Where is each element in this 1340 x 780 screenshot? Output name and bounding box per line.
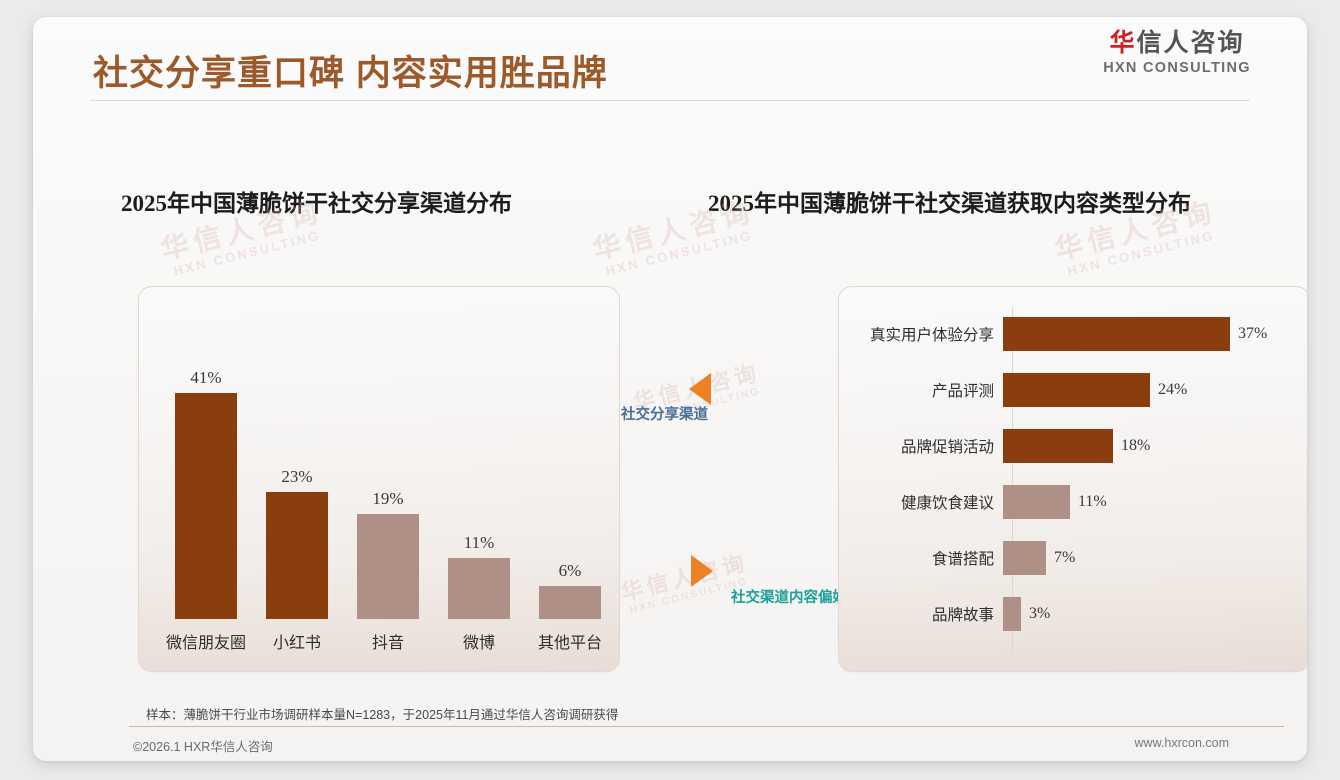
left-chart-title: 2025年中国薄脆饼干社交分享渠道分布: [121, 184, 512, 218]
footer-divider: [129, 726, 1284, 727]
bar-row: 产品评测24%: [839, 373, 1307, 407]
watermark: 华信人咨询 HXN CONSULTING: [618, 550, 753, 618]
column-bar[interactable]: [175, 393, 237, 619]
page-title: 社交分享重口碑 内容实用胜品牌: [93, 45, 608, 96]
triangle-right-icon: [691, 555, 713, 587]
social-share-channel-column-chart: 41%微信朋友圈23%小红书19%抖音11%微博6%其他平台: [139, 287, 619, 671]
column-value-label: 6%: [525, 561, 615, 581]
logo-accent-char: 华: [1109, 29, 1136, 57]
bar-row: 品牌促销活动18%: [839, 429, 1307, 463]
column-category-label: 其他平台: [515, 629, 620, 653]
bar-row-bar[interactable]: [1003, 429, 1113, 463]
bar-row-label: 产品评测: [839, 379, 1003, 401]
column-value-label: 41%: [161, 368, 251, 388]
logo-english-text: HXN CONSULTING: [1082, 60, 1272, 76]
bar-row-label: 真实用户体验分享: [839, 323, 1003, 345]
column-bar[interactable]: [357, 514, 419, 619]
bar-row-value-label: 11%: [1078, 493, 1107, 511]
website-link[interactable]: www.hxrcon.com: [1135, 736, 1229, 750]
source-note: 样本：薄脆饼干行业市场调研样本量N=1283，于2025年11月通过华信人咨询调…: [146, 704, 618, 723]
triangle-left-icon: [689, 373, 711, 405]
slide-header: 社交分享重口碑 内容实用胜品牌 华信人咨询 HXN CONSULTING: [33, 17, 1307, 137]
bar-row-bar[interactable]: [1003, 373, 1150, 407]
left-chart-panel: 41%微信朋友圈23%小红书19%抖音11%微博6%其他平台: [138, 286, 620, 672]
bar-row-value-label: 18%: [1121, 437, 1150, 455]
bar-row: 食谱搭配7%: [839, 541, 1307, 575]
bar-row-bar[interactable]: [1003, 541, 1046, 575]
logo-rest-chars: 信人咨询: [1137, 29, 1245, 57]
logo-chinese-text: 华信人咨询: [1082, 29, 1272, 58]
bar-row-label: 健康饮食建议: [839, 491, 1003, 513]
bar-row-value-label: 3%: [1029, 605, 1050, 623]
bar-row-bar[interactable]: [1003, 317, 1230, 351]
bar-row-label: 品牌促销活动: [839, 435, 1003, 457]
column-group: 23%: [252, 467, 342, 619]
bar-row: 真实用户体验分享37%: [839, 317, 1307, 351]
connector-label-2: 社交渠道内容偏好: [731, 586, 847, 607]
header-divider: [90, 100, 1250, 101]
column-bar[interactable]: [539, 586, 601, 619]
right-chart-panel: 真实用户体验分享37%产品评测24%品牌促销活动18%健康饮食建议11%食谱搭配…: [838, 286, 1307, 672]
bar-row-value-label: 24%: [1158, 381, 1187, 399]
bar-row: 健康饮食建议11%: [839, 485, 1307, 519]
right-chart-title: 2025年中国薄脆饼干社交渠道获取内容类型分布: [708, 184, 1191, 218]
bar-row-value-label: 37%: [1238, 325, 1267, 343]
content-type-bar-chart: 真实用户体验分享37%产品评测24%品牌促销活动18%健康饮食建议11%食谱搭配…: [839, 287, 1307, 671]
column-group: 19%: [343, 489, 433, 619]
bar-row: 品牌故事3%: [839, 597, 1307, 631]
bar-row-value-label: 7%: [1054, 549, 1075, 567]
column-value-label: 11%: [434, 533, 524, 553]
column-group: 11%: [434, 533, 524, 619]
column-bar[interactable]: [266, 492, 328, 619]
column-value-label: 23%: [252, 467, 342, 487]
slide-canvas: 社交分享重口碑 内容实用胜品牌 华信人咨询 HXN CONSULTING 202…: [33, 17, 1307, 761]
column-group: 6%: [525, 561, 615, 619]
company-logo: 华信人咨询 HXN CONSULTING: [1082, 29, 1272, 76]
bar-row-label: 品牌故事: [839, 603, 1003, 625]
column-value-label: 19%: [343, 489, 433, 509]
connector-label-1: 社交分享渠道: [621, 403, 708, 424]
column-bar[interactable]: [448, 558, 510, 619]
bar-row-bar[interactable]: [1003, 597, 1021, 631]
bar-row-label: 食谱搭配: [839, 547, 1003, 569]
copyright-text: ©2026.1 HXR华信人咨询: [133, 736, 273, 755]
bar-row-bar[interactable]: [1003, 485, 1070, 519]
column-group: 41%: [161, 368, 251, 619]
